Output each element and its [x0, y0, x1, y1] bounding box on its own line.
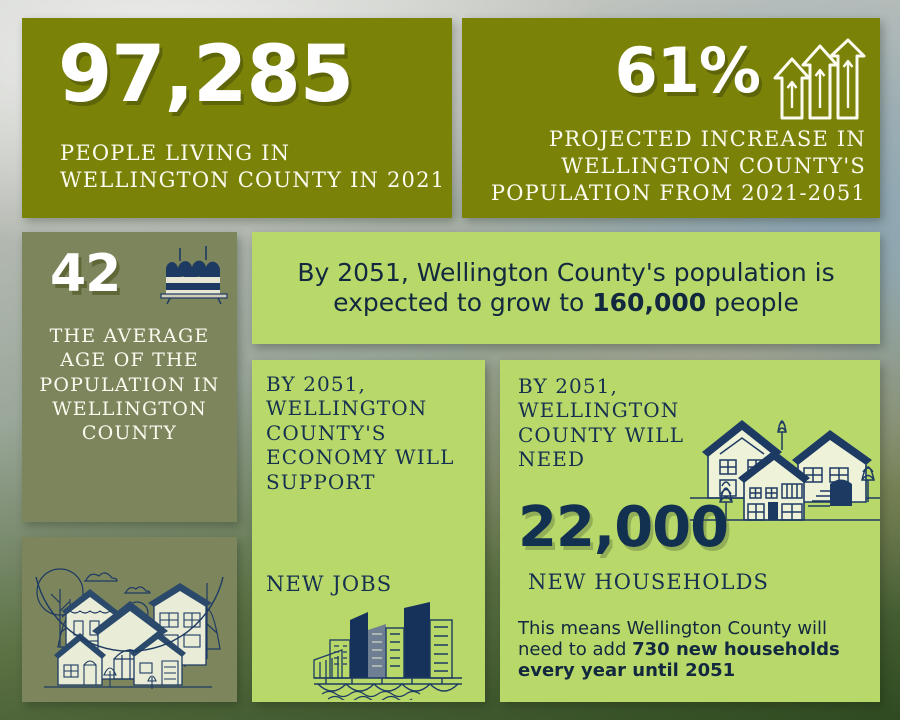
card-average-age: 42 THE AVERAGE AGE OF THE POPULATION IN … — [22, 232, 237, 522]
population-stat: 97,285 — [58, 36, 353, 114]
village-illustration-icon — [22, 537, 237, 702]
card-population: 97,285 PEOPLE LIVING IN WELLINGTON COUNT… — [22, 18, 452, 218]
growth-banner-highlight: 160,000 — [592, 288, 706, 317]
card-projected-increase: 61% PROJECTED INCREASE IN WELLINGTON COU… — [462, 18, 880, 218]
new-households-stat: 22,000 — [518, 500, 728, 556]
card-growth-banner: By 2051, Wellington County's population … — [252, 232, 880, 344]
card-new-households: BY 2051, WELLINGTON COUNTY WILL NEED — [500, 360, 880, 702]
growth-banner-text-after: people — [706, 288, 799, 317]
projected-increase-caption: PROJECTED INCREASE IN WELLINGTON COUNTY'… — [474, 126, 866, 207]
new-households-note-bold-1: 730 new households — [632, 639, 840, 660]
new-households-note-bold-2: every year until 2051 — [518, 660, 735, 681]
city-buildings-icon — [312, 600, 480, 700]
birthday-cake-icon — [158, 244, 230, 306]
card-new-jobs: BY 2051, WELLINGTON COUNTY'S ECONOMY WIL… — [252, 360, 485, 702]
infographic-canvas: 97,285 PEOPLE LIVING IN WELLINGTON COUNT… — [0, 0, 900, 720]
new-jobs-sub: NEW JOBS — [266, 572, 392, 598]
new-jobs-lead: BY 2051, WELLINGTON COUNTY'S ECONOMY WIL… — [266, 372, 478, 494]
growth-banner-text: By 2051, Wellington County's population … — [252, 258, 880, 317]
average-age-caption: THE AVERAGE AGE OF THE POPULATION IN WEL… — [30, 324, 229, 446]
average-age-stat: 42 — [50, 248, 120, 300]
projected-increase-stat: 61% — [615, 40, 760, 102]
growth-arrows-icon — [772, 38, 866, 120]
new-households-sub: NEW HOUSEHOLDS — [528, 570, 769, 596]
card-village — [22, 537, 237, 702]
new-households-note: This means Wellington County will need t… — [518, 618, 862, 682]
population-caption: PEOPLE LIVING IN WELLINGTON COUNTY IN 20… — [60, 140, 452, 194]
